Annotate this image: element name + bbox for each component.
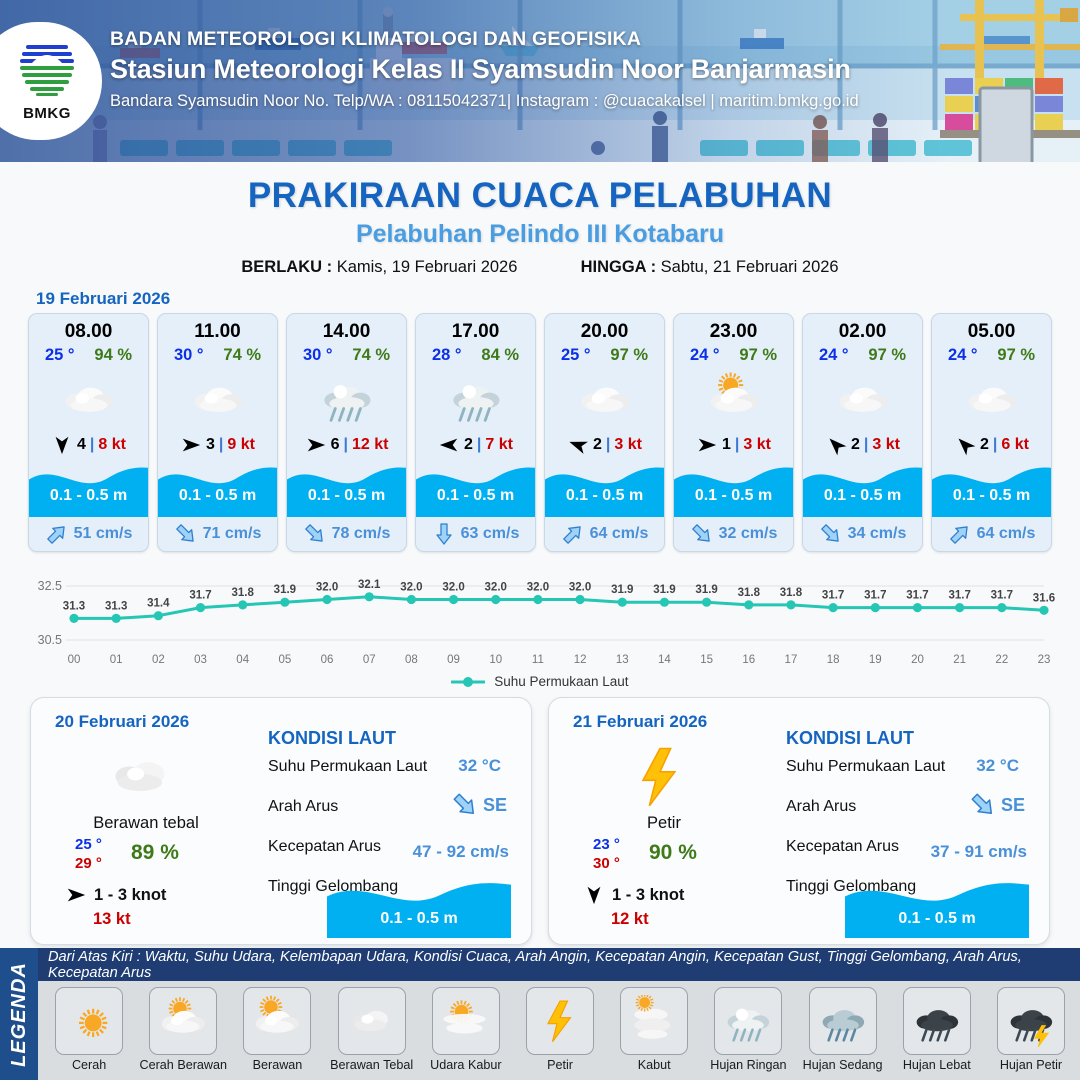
- svg-text:02: 02: [152, 654, 165, 666]
- panel-current-dir-value: SE: [483, 795, 507, 816]
- wind-direction-arrow: [305, 434, 327, 456]
- svg-text:14: 14: [658, 654, 671, 666]
- legenda-item-label: Kabut: [638, 1058, 671, 1072]
- weather-icon-heavy-rain: [910, 995, 964, 1046]
- wind-direction-arrow: [65, 884, 87, 906]
- svg-text:31.7: 31.7: [948, 590, 970, 602]
- card-separator: |: [343, 436, 347, 454]
- svg-text:06: 06: [321, 654, 334, 666]
- svg-text:31.3: 31.3: [63, 600, 85, 612]
- panel-wave: 0.1 - 0.5 m: [327, 876, 511, 938]
- wave-graphic: [327, 876, 511, 938]
- card-wind: 1 | 3 kt: [674, 429, 793, 461]
- panel-wind: 1 - 3 knot: [583, 884, 684, 906]
- weather-icon-mod-rain: [816, 995, 870, 1046]
- panel-weather-icon: [605, 740, 715, 812]
- card-gust: 6 kt: [1001, 436, 1029, 454]
- forecast-card: 20.00 25 ° 97 % 2 | 3 kt 0.1 - 0.5 m: [544, 313, 665, 552]
- card-weather-icon: [932, 367, 1051, 429]
- wave-height-value: 0.1 - 0.5 m: [545, 487, 664, 505]
- forecast-day-label: 19 Februari 2026: [36, 289, 1080, 309]
- svg-text:22: 22: [995, 654, 1008, 666]
- card-current-speed: 51 cm/s: [74, 525, 133, 543]
- card-gust: 8 kt: [98, 436, 126, 454]
- forecast-card: 08.00 25 ° 94 % 4 | 8 kt 0.1 - 0.5 m: [28, 313, 149, 552]
- card-time: 17.00: [416, 314, 535, 343]
- weather-icon-light-rain: [446, 370, 506, 427]
- svg-text:15: 15: [700, 654, 713, 666]
- card-wave: 0.1 - 0.5 m: [674, 461, 793, 517]
- card-current: 71 cm/s: [158, 517, 277, 551]
- current-direction-arrow: [432, 522, 456, 546]
- panel-sea-title: KONDISI LAUT: [268, 728, 396, 749]
- card-gust: 9 kt: [227, 436, 255, 454]
- page-header: BMKG BADAN METEOROLOGI KLIMATOLOGI DAN G…: [0, 0, 1080, 162]
- panel-current-dir-value: SE: [1001, 795, 1025, 816]
- svg-text:31.8: 31.8: [232, 587, 255, 599]
- svg-text:31.7: 31.7: [906, 590, 928, 602]
- wind-direction-arrow: [567, 434, 589, 456]
- page-subtitle: Pelabuhan Pelindo III Kotabaru: [0, 220, 1080, 249]
- card-humidity: 84 %: [481, 346, 519, 365]
- svg-text:00: 00: [68, 654, 81, 666]
- panel-current-dir: SE: [451, 791, 507, 819]
- card-current-speed: 64 cm/s: [590, 525, 649, 543]
- weather-icon-light-rain: [317, 370, 377, 427]
- legenda-item: Hujan Sedang: [798, 987, 888, 1072]
- legenda-icon-box: [809, 987, 877, 1055]
- wave-height-value: 0.1 - 0.5 m: [158, 487, 277, 505]
- card-temperature: 24 °: [948, 346, 978, 365]
- svg-text:09: 09: [447, 654, 460, 666]
- card-wave: 0.1 - 0.5 m: [158, 461, 277, 517]
- forecast-card: 02.00 24 ° 97 % 2 | 3 kt 0.1 - 0.5 m: [802, 313, 923, 552]
- panel-date: 20 Februari 2026: [55, 712, 189, 732]
- weather-icon-light-rain: [721, 995, 775, 1046]
- svg-text:21: 21: [953, 654, 966, 666]
- card-separator: |: [735, 436, 739, 454]
- weather-icon-overcast: [104, 740, 180, 812]
- card-humidity: 97 %: [739, 346, 777, 365]
- wave-height-value: 0.1 - 0.5 m: [932, 487, 1051, 505]
- legenda-item: Cerah Berawan: [138, 987, 228, 1072]
- card-wind: 6 | 12 kt: [287, 429, 406, 461]
- card-temperature: 25 °: [45, 346, 75, 365]
- weather-icon-sunny: [62, 995, 116, 1046]
- svg-text:04: 04: [236, 654, 249, 666]
- wind-direction-arrow: [180, 434, 202, 456]
- card-wave: 0.1 - 0.5 m: [803, 461, 922, 517]
- header-text-block: BADAN METEOROLOGI KLIMATOLOGI DAN GEOFIS…: [110, 28, 859, 111]
- card-time: 05.00: [932, 314, 1051, 343]
- svg-text:31.9: 31.9: [274, 584, 296, 596]
- legenda-icon-box: [338, 987, 406, 1055]
- weather-icon-cloudy: [575, 370, 635, 427]
- panel-row-sst: Suhu Permukaan Laut: [268, 758, 427, 776]
- card-wind: 2 | 6 kt: [932, 429, 1051, 461]
- svg-text:31.7: 31.7: [822, 590, 844, 602]
- card-wave: 0.1 - 0.5 m: [932, 461, 1051, 517]
- weather-icon-cloudy-sun: [250, 995, 304, 1046]
- legenda-item: Hujan Lebat: [892, 987, 982, 1072]
- valid-from-label: BERLAKU :: [241, 258, 332, 276]
- panel-wind-text: 1 - 3 knot: [612, 886, 684, 905]
- current-direction-arrow: [561, 522, 585, 546]
- card-gust: 3 kt: [872, 436, 900, 454]
- chart-legend-label: Suhu Permukaan Laut: [494, 674, 628, 689]
- card-temperature: 24 °: [819, 346, 849, 365]
- valid-to-value: Sabtu, 21 Februari 2026: [661, 258, 839, 276]
- card-wave: 0.1 - 0.5 m: [416, 461, 535, 517]
- current-direction-arrow: [174, 522, 198, 546]
- card-temperature: 24 °: [690, 346, 720, 365]
- wave-height-value: 0.1 - 0.5 m: [674, 487, 793, 505]
- legenda-item-label: Hujan Lebat: [903, 1058, 971, 1072]
- chart-legend: Suhu Permukaan Laut: [0, 674, 1080, 689]
- sst-chart: 32.530.531.30031.30131.40231.70331.80431…: [22, 564, 1058, 672]
- wind-direction-arrow: [696, 434, 718, 456]
- station-name: Stasiun Meteorologi Kelas II Syamsudin N…: [110, 54, 859, 85]
- weather-icon-fog: [627, 995, 681, 1046]
- panel-sea-title: KONDISI LAUT: [786, 728, 914, 749]
- card-weather-icon: [287, 367, 406, 429]
- card-current: 64 cm/s: [545, 517, 664, 551]
- legenda-item: Petir: [515, 987, 605, 1072]
- wind-direction-arrow: [51, 434, 73, 456]
- card-wind: 2 | 3 kt: [545, 429, 664, 461]
- card-separator: |: [90, 436, 94, 454]
- panel-row-sst: Suhu Permukaan Laut: [786, 758, 945, 776]
- svg-text:31.9: 31.9: [611, 584, 633, 596]
- forecast-card: 11.00 30 ° 74 % 3 | 9 kt 0.1 - 0.5 m: [157, 313, 278, 552]
- weather-icon-overcast: [345, 995, 399, 1046]
- legenda-section: LEGENDA Dari Atas Kiri : Waktu, Suhu Uda…: [0, 948, 1080, 1080]
- panel-current-dir: SE: [969, 791, 1025, 819]
- legenda-item-label: Udara Kabur: [430, 1058, 501, 1072]
- card-wave: 0.1 - 0.5 m: [287, 461, 406, 517]
- wave-graphic: [845, 876, 1029, 938]
- weather-icon-partly-cloudy: [704, 370, 764, 427]
- forecast-card: 23.00 24 ° 97 % 1 | 3 kt 0.1 - 0.5 m: [673, 313, 794, 552]
- bmkg-logo-icon: [16, 41, 78, 99]
- current-direction-arrow: [690, 522, 714, 546]
- card-time: 08.00: [29, 314, 148, 343]
- legenda-icon-box: [243, 987, 311, 1055]
- agency-name: BADAN METEOROLOGI KLIMATOLOGI DAN GEOFIS…: [110, 28, 859, 51]
- current-direction-arrow: [451, 791, 479, 819]
- card-wind: 3 | 9 kt: [158, 429, 277, 461]
- legenda-item-label: Hujan Sedang: [803, 1058, 883, 1072]
- valid-to-label: HINGGA :: [581, 258, 656, 276]
- legenda-item: Kabut: [609, 987, 699, 1072]
- forecast-card: 05.00 24 ° 97 % 2 | 6 kt 0.1 - 0.5 m: [931, 313, 1052, 552]
- contact-line: Bandara Syamsudin Noor No. Telp/WA : 081…: [110, 92, 859, 111]
- wave-height-value: 0.1 - 0.5 m: [845, 910, 1029, 928]
- daily-forecast-panel: 20 Februari 2026 Berawan tebal 25 ° 29 °…: [30, 697, 532, 945]
- card-current: 64 cm/s: [932, 517, 1051, 551]
- wave-height-value: 0.1 - 0.5 m: [327, 910, 511, 928]
- card-wind-speed: 2: [980, 436, 989, 454]
- card-current: 78 cm/s: [287, 517, 406, 551]
- panel-wave: 0.1 - 0.5 m: [845, 876, 1029, 938]
- wave-height-value: 0.1 - 0.5 m: [287, 487, 406, 505]
- card-time: 02.00: [803, 314, 922, 343]
- current-direction-arrow: [303, 522, 327, 546]
- legenda-icon-box: [903, 987, 971, 1055]
- forecast-card: 17.00 28 ° 84 % 2 | 7 kt 0.1 - 0.5 m: [415, 313, 536, 552]
- svg-text:31.4: 31.4: [147, 598, 170, 610]
- panel-humidity: 90 %: [649, 841, 697, 865]
- card-current: 63 cm/s: [416, 517, 535, 551]
- panel-humidity: 89 %: [131, 841, 179, 865]
- panel-gust: 12 kt: [611, 910, 649, 929]
- card-wind: 4 | 8 kt: [29, 429, 148, 461]
- card-temperature: 30 °: [174, 346, 204, 365]
- legenda-item-label: Berawan: [253, 1058, 303, 1072]
- sst-chart-svg: 32.530.531.30031.30131.40231.70331.80431…: [22, 564, 1058, 672]
- card-current-speed: 71 cm/s: [203, 525, 262, 543]
- card-current: 32 cm/s: [674, 517, 793, 551]
- card-separator: |: [606, 436, 610, 454]
- legenda-icon-box: [55, 987, 123, 1055]
- panel-temps: 23 ° 30 °: [593, 836, 620, 872]
- svg-text:18: 18: [827, 654, 840, 666]
- card-gust: 12 kt: [352, 436, 388, 454]
- card-separator: |: [477, 436, 481, 454]
- card-humidity: 74 %: [223, 346, 261, 365]
- legenda-icon-box: [714, 987, 782, 1055]
- svg-text:32.0: 32.0: [569, 582, 591, 594]
- svg-text:30.5: 30.5: [38, 633, 62, 647]
- card-weather-icon: [158, 367, 277, 429]
- panel-row-current-speed: Kecepatan Arus: [268, 838, 381, 856]
- svg-text:32.0: 32.0: [485, 582, 507, 594]
- legenda-icon-box: [526, 987, 594, 1055]
- legenda-item: Berawan: [232, 987, 322, 1072]
- card-wind-speed: 3: [206, 436, 215, 454]
- card-wind-speed: 2: [593, 436, 602, 454]
- card-gust: 3 kt: [614, 436, 642, 454]
- legenda-item: Berawan Tebal: [327, 987, 417, 1072]
- panel-temp-min: 25 °: [75, 836, 102, 853]
- panel-sst-value: 32 °C: [976, 756, 1019, 776]
- card-temperature: 28 °: [432, 346, 462, 365]
- svg-text:32.1: 32.1: [358, 579, 381, 591]
- card-separator: |: [864, 436, 868, 454]
- card-gust: 7 kt: [485, 436, 513, 454]
- card-wind: 2 | 7 kt: [416, 429, 535, 461]
- svg-text:32.0: 32.0: [316, 582, 338, 594]
- legenda-item-label: Hujan Petir: [1000, 1058, 1062, 1072]
- legenda-side-label: LEGENDA: [0, 948, 38, 1080]
- panel-temp-max: 30 °: [593, 855, 620, 872]
- card-current-speed: 78 cm/s: [332, 525, 391, 543]
- card-humidity: 74 %: [352, 346, 390, 365]
- svg-text:17: 17: [785, 654, 798, 666]
- svg-text:32.5: 32.5: [38, 579, 62, 593]
- panel-sst-value: 32 °C: [458, 756, 501, 776]
- card-current: 51 cm/s: [29, 517, 148, 551]
- card-weather-icon: [416, 367, 535, 429]
- svg-text:31.8: 31.8: [738, 587, 761, 599]
- svg-text:31.6: 31.6: [1033, 592, 1055, 604]
- svg-text:16: 16: [742, 654, 755, 666]
- daily-forecast-panel: 21 Februari 2026 Petir 23 ° 30 ° 90 % 1 …: [548, 697, 1050, 945]
- weather-icon-thunder: [622, 740, 698, 812]
- wind-direction-arrow: [825, 434, 847, 456]
- svg-text:10: 10: [489, 654, 502, 666]
- legenda-icon-box: [149, 987, 217, 1055]
- svg-text:32.0: 32.0: [400, 582, 422, 594]
- card-temperature: 30 °: [303, 346, 333, 365]
- hourly-forecast-row: 08.00 25 ° 94 % 4 | 8 kt 0.1 - 0.5 m: [0, 313, 1080, 552]
- panel-date: 21 Februari 2026: [573, 712, 707, 732]
- legenda-item: Udara Kabur: [421, 987, 511, 1072]
- svg-text:31.7: 31.7: [864, 590, 886, 602]
- card-time: 23.00: [674, 314, 793, 343]
- svg-text:01: 01: [110, 654, 123, 666]
- card-current-speed: 63 cm/s: [461, 525, 520, 543]
- card-current-speed: 34 cm/s: [848, 525, 907, 543]
- panel-wind-text: 1 - 3 knot: [94, 886, 166, 905]
- legenda-items: Cerah Cerah Berawan Berawan Berawan Teba…: [38, 981, 1080, 1080]
- card-current-speed: 32 cm/s: [719, 525, 778, 543]
- wind-direction-arrow: [438, 434, 460, 456]
- card-wave: 0.1 - 0.5 m: [545, 461, 664, 517]
- svg-text:31.7: 31.7: [189, 590, 211, 602]
- weather-icon-cloudy: [59, 370, 119, 427]
- svg-text:03: 03: [194, 654, 207, 666]
- card-wind-speed: 2: [464, 436, 473, 454]
- valid-from-value: Kamis, 19 Februari 2026: [337, 258, 518, 276]
- panel-row-current-dir: Arah Arus: [268, 798, 338, 816]
- legenda-item-label: Hujan Ringan: [710, 1058, 786, 1072]
- card-separator: |: [219, 436, 223, 454]
- panel-weather-icon: [87, 740, 197, 812]
- legenda-item: Cerah: [44, 987, 134, 1072]
- panel-temps: 25 ° 29 °: [75, 836, 102, 872]
- card-separator: |: [993, 436, 997, 454]
- panel-row-current-speed: Kecepatan Arus: [786, 838, 899, 856]
- current-direction-arrow: [819, 522, 843, 546]
- svg-text:31.8: 31.8: [780, 587, 803, 599]
- panel-gust: 13 kt: [93, 910, 131, 929]
- card-current-speed: 64 cm/s: [977, 525, 1036, 543]
- legenda-item-label: Cerah Berawan: [140, 1058, 228, 1072]
- card-humidity: 94 %: [94, 346, 132, 365]
- legenda-icon-box: [620, 987, 688, 1055]
- card-time: 11.00: [158, 314, 277, 343]
- wave-height-value: 0.1 - 0.5 m: [416, 487, 535, 505]
- panel-wind: 1 - 3 knot: [65, 884, 166, 906]
- card-humidity: 97 %: [868, 346, 906, 365]
- card-time: 20.00: [545, 314, 664, 343]
- card-wind-speed: 1: [722, 436, 731, 454]
- card-wind-speed: 4: [77, 436, 86, 454]
- card-weather-icon: [545, 367, 664, 429]
- card-humidity: 97 %: [610, 346, 648, 365]
- chart-legend-marker: [451, 676, 485, 688]
- current-direction-arrow: [969, 791, 997, 819]
- panel-condition: Berawan tebal: [31, 814, 261, 833]
- weather-icon-haze: [439, 995, 493, 1046]
- daily-panels: 20 Februari 2026 Berawan tebal 25 ° 29 °…: [0, 689, 1080, 945]
- title-block: PRAKIRAAN CUACA PELABUHAN Pelabuhan Peli…: [0, 176, 1080, 277]
- bmkg-logo-text: BMKG: [16, 105, 78, 122]
- legenda-note: Dari Atas Kiri : Waktu, Suhu Udara, Kele…: [38, 948, 1080, 981]
- panel-condition: Petir: [549, 814, 779, 833]
- svg-text:23: 23: [1038, 654, 1051, 666]
- legenda-item-label: Cerah: [72, 1058, 106, 1072]
- card-temperature: 25 °: [561, 346, 591, 365]
- svg-text:19: 19: [869, 654, 882, 666]
- card-wind: 2 | 3 kt: [803, 429, 922, 461]
- current-direction-arrow: [45, 522, 69, 546]
- svg-text:05: 05: [278, 654, 291, 666]
- current-direction-arrow: [948, 522, 972, 546]
- card-humidity: 97 %: [997, 346, 1035, 365]
- card-weather-icon: [803, 367, 922, 429]
- card-wind-speed: 2: [851, 436, 860, 454]
- legenda-item-label: Petir: [547, 1058, 573, 1072]
- svg-text:07: 07: [363, 654, 376, 666]
- svg-text:32.0: 32.0: [527, 582, 549, 594]
- panel-temp-min: 23 °: [593, 836, 620, 853]
- validity-range: BERLAKU : Kamis, 19 Februari 2026 HINGGA…: [0, 258, 1080, 277]
- svg-text:12: 12: [574, 654, 587, 666]
- legenda-item-label: Berawan Tebal: [330, 1058, 413, 1072]
- svg-text:13: 13: [616, 654, 629, 666]
- svg-text:08: 08: [405, 654, 418, 666]
- svg-text:31.9: 31.9: [653, 584, 675, 596]
- card-weather-icon: [674, 367, 793, 429]
- forecast-card: 14.00 30 ° 74 % 6 | 12 kt 0.1 - 0.5 m: [286, 313, 407, 552]
- card-current: 34 cm/s: [803, 517, 922, 551]
- panel-current-speed-value: 47 - 92 cm/s: [413, 842, 509, 862]
- wave-height-value: 0.1 - 0.5 m: [29, 487, 148, 505]
- card-weather-icon: [29, 367, 148, 429]
- card-wind-speed: 6: [331, 436, 340, 454]
- legenda-item: Hujan Petir: [986, 987, 1076, 1072]
- weather-icon-partly-cloudy: [156, 995, 210, 1046]
- card-wave: 0.1 - 0.5 m: [29, 461, 148, 517]
- legenda-item: Hujan Ringan: [703, 987, 793, 1072]
- svg-text:31.7: 31.7: [991, 590, 1013, 602]
- svg-text:31.3: 31.3: [105, 600, 127, 612]
- wind-direction-arrow: [954, 434, 976, 456]
- legenda-icon-box: [997, 987, 1065, 1055]
- wind-direction-arrow: [583, 884, 605, 906]
- svg-text:20: 20: [911, 654, 924, 666]
- panel-current-speed-value: 37 - 91 cm/s: [931, 842, 1027, 862]
- svg-text:32.0: 32.0: [442, 582, 464, 594]
- weather-icon-cloudy: [833, 370, 893, 427]
- weather-icon-thunder-rain: [1004, 995, 1058, 1046]
- weather-icon-thunder: [533, 995, 587, 1046]
- svg-text:11: 11: [532, 654, 544, 666]
- weather-icon-cloudy: [962, 370, 1022, 427]
- svg-text:31.9: 31.9: [695, 584, 717, 596]
- legenda-icon-box: [432, 987, 500, 1055]
- panel-temp-max: 29 °: [75, 855, 102, 872]
- legenda-side-text: LEGENDA: [8, 962, 31, 1067]
- card-gust: 3 kt: [743, 436, 771, 454]
- page-title: PRAKIRAAN CUACA PELABUHAN: [0, 176, 1080, 216]
- weather-icon-cloudy: [188, 370, 248, 427]
- card-time: 14.00: [287, 314, 406, 343]
- panel-row-current-dir: Arah Arus: [786, 798, 856, 816]
- wave-height-value: 0.1 - 0.5 m: [803, 487, 922, 505]
